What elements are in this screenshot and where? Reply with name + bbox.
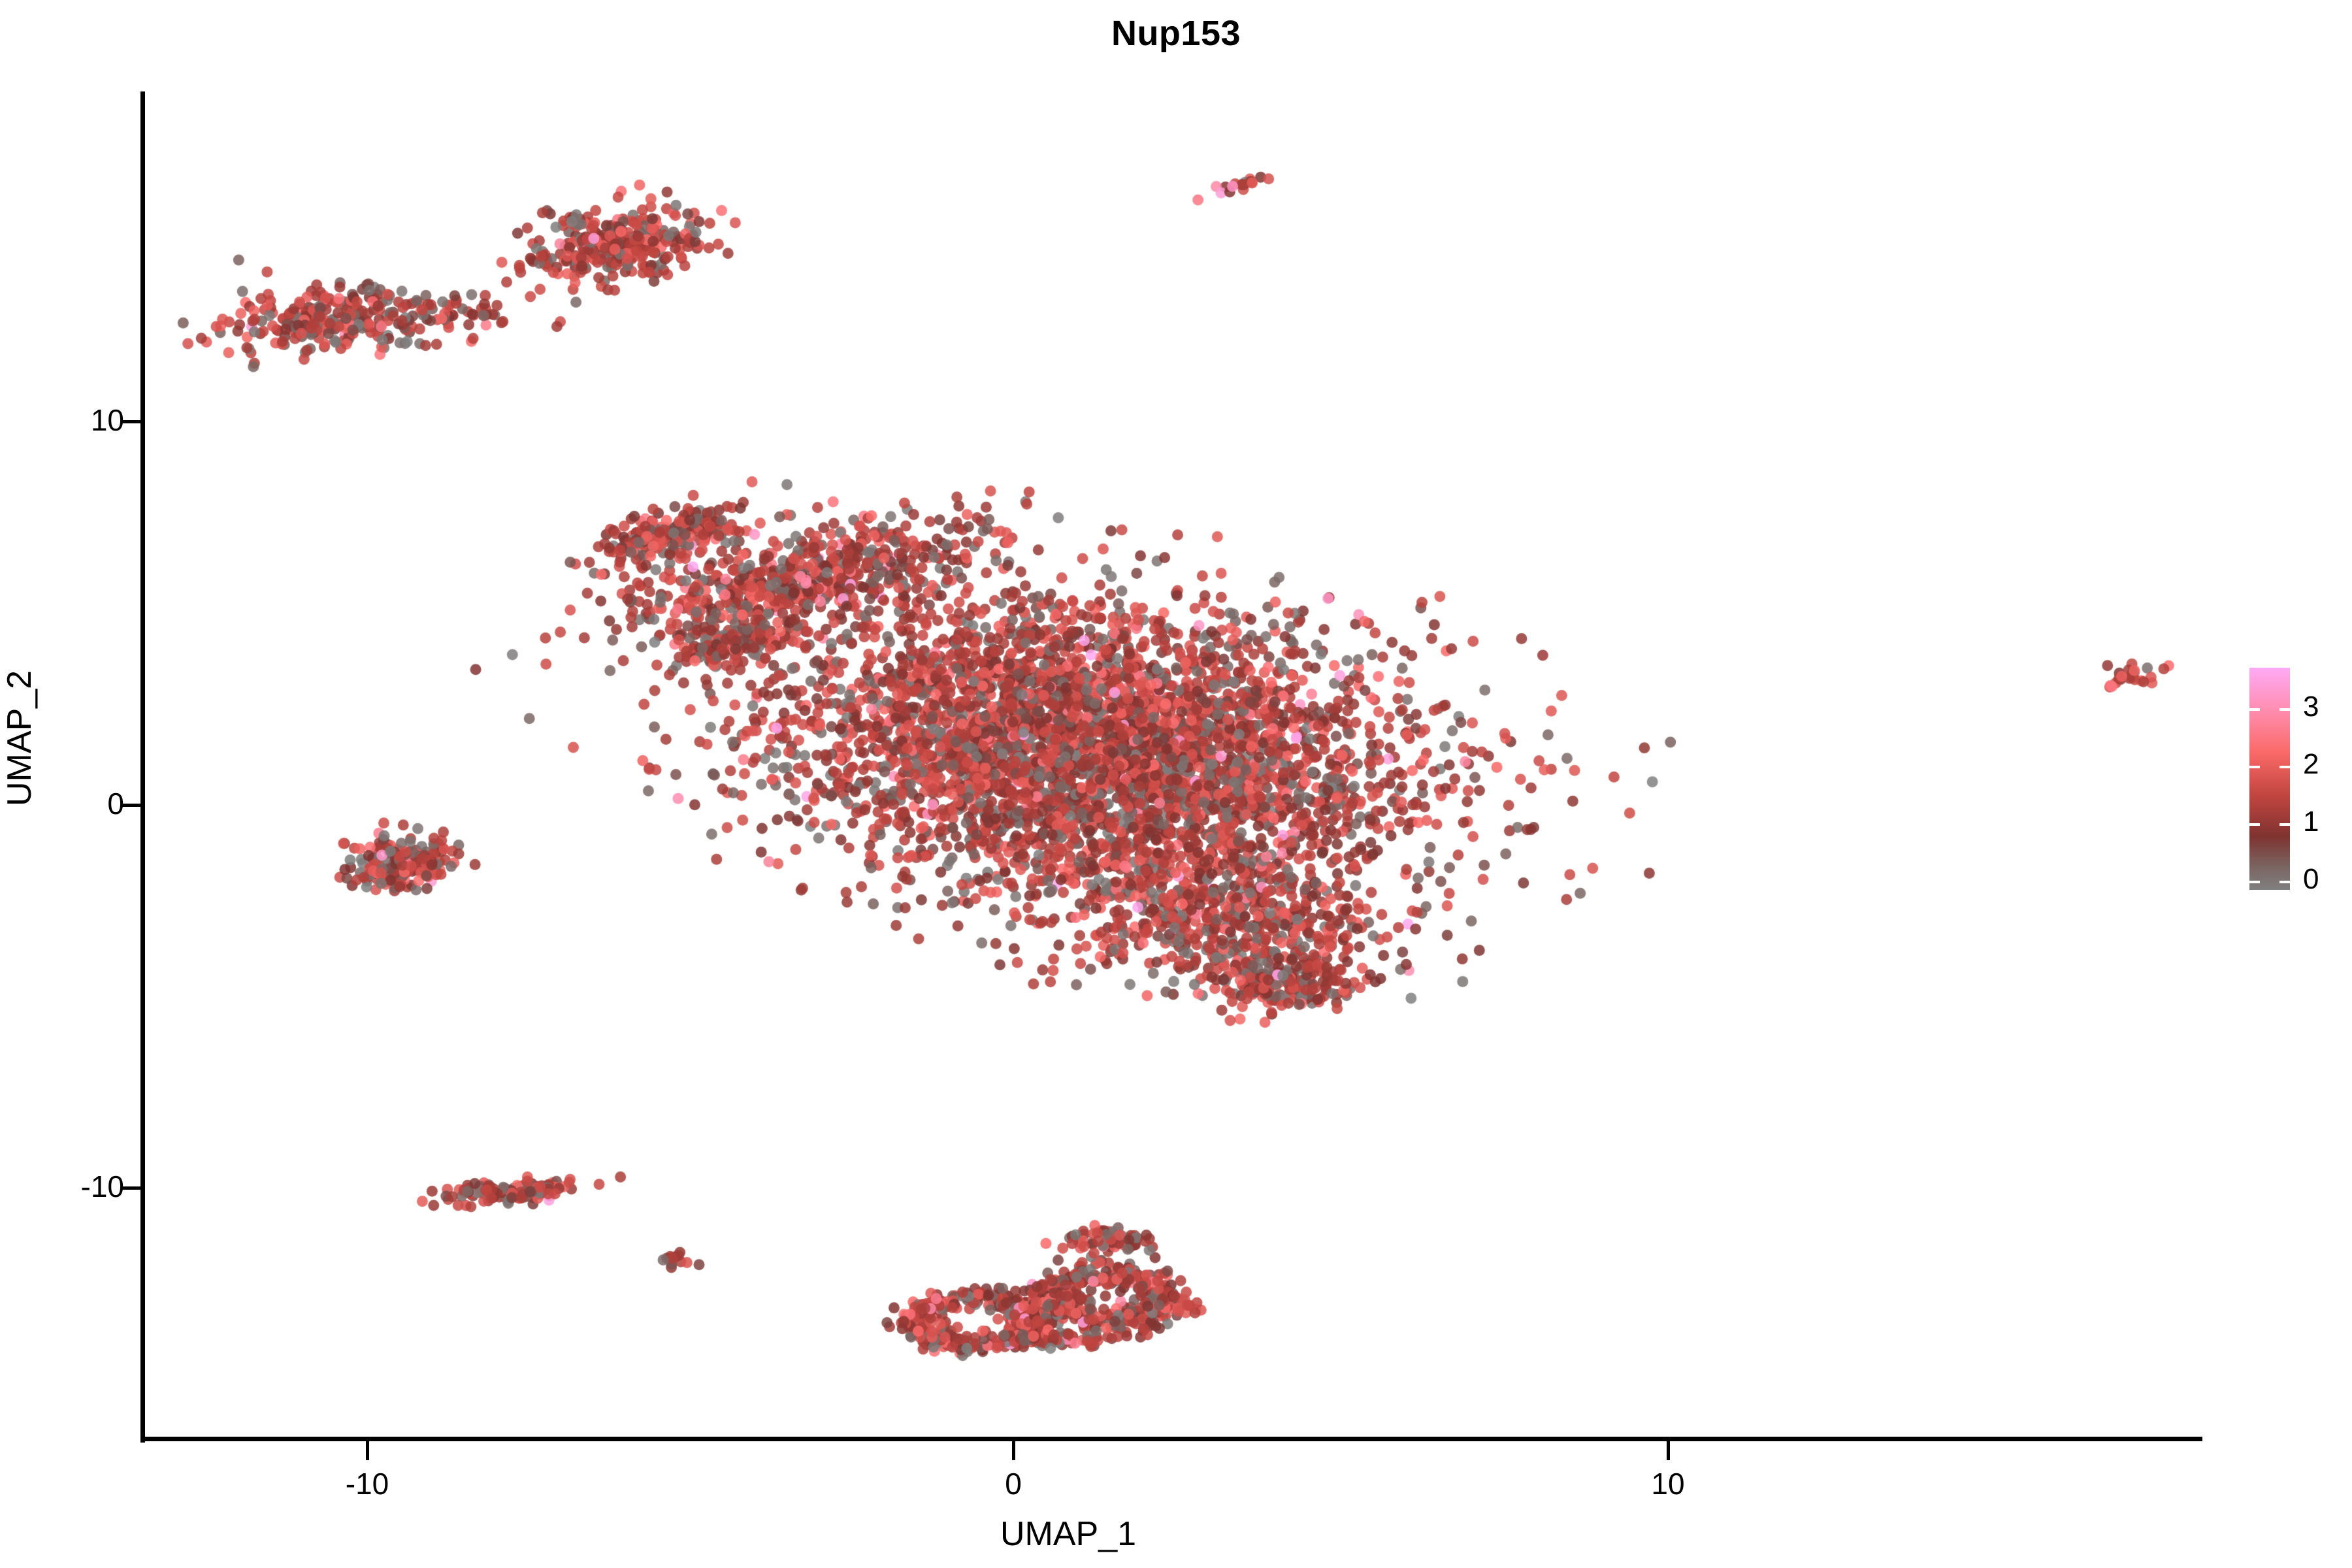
legend-tick-label: 1: [2303, 808, 2319, 836]
x-tick-mark: [366, 1441, 369, 1460]
legend-tick-mark: [2249, 823, 2260, 826]
y-tick-label: 10: [0, 405, 124, 435]
y-tick-mark: [122, 1186, 140, 1190]
legend-tick-mark: [2279, 708, 2290, 711]
x-axis-title: UMAP_1: [0, 1514, 2136, 1554]
legend-colorbar: [2249, 668, 2290, 890]
x-tick-label: 0: [915, 1469, 1111, 1499]
legend-tick-label: 3: [2303, 693, 2319, 721]
legend-tick-label: 0: [2303, 865, 2319, 894]
x-tick-label: -10: [269, 1469, 465, 1499]
y-axis-line: [140, 91, 145, 1443]
y-axis-title: UMAP_2: [0, 510, 39, 967]
color-legend: 3210: [2249, 668, 2347, 903]
y-tick-label: -10: [0, 1171, 124, 1201]
x-axis-line: [140, 1437, 2202, 1441]
y-tick-mark: [122, 420, 140, 423]
x-tick-label: 10: [1570, 1469, 1766, 1499]
legend-tick-label: 2: [2303, 750, 2319, 779]
x-tick-mark: [1667, 1441, 1670, 1460]
legend-tick-mark: [2279, 881, 2290, 883]
legend-tick-mark: [2249, 766, 2260, 768]
umap-feature-plot: Nup153 100-10-10010 UMAP_1 UMAP_2 3210: [0, 0, 2352, 1568]
legend-tick-mark: [2249, 881, 2260, 883]
page-title: Nup153: [0, 13, 2352, 54]
legend-tick-mark: [2249, 708, 2260, 711]
scatter-plot-canvas: [144, 91, 2202, 1439]
x-tick-mark: [1012, 1441, 1015, 1460]
legend-tick-mark: [2279, 766, 2290, 768]
y-tick-mark: [122, 804, 140, 807]
legend-tick-mark: [2279, 823, 2290, 826]
